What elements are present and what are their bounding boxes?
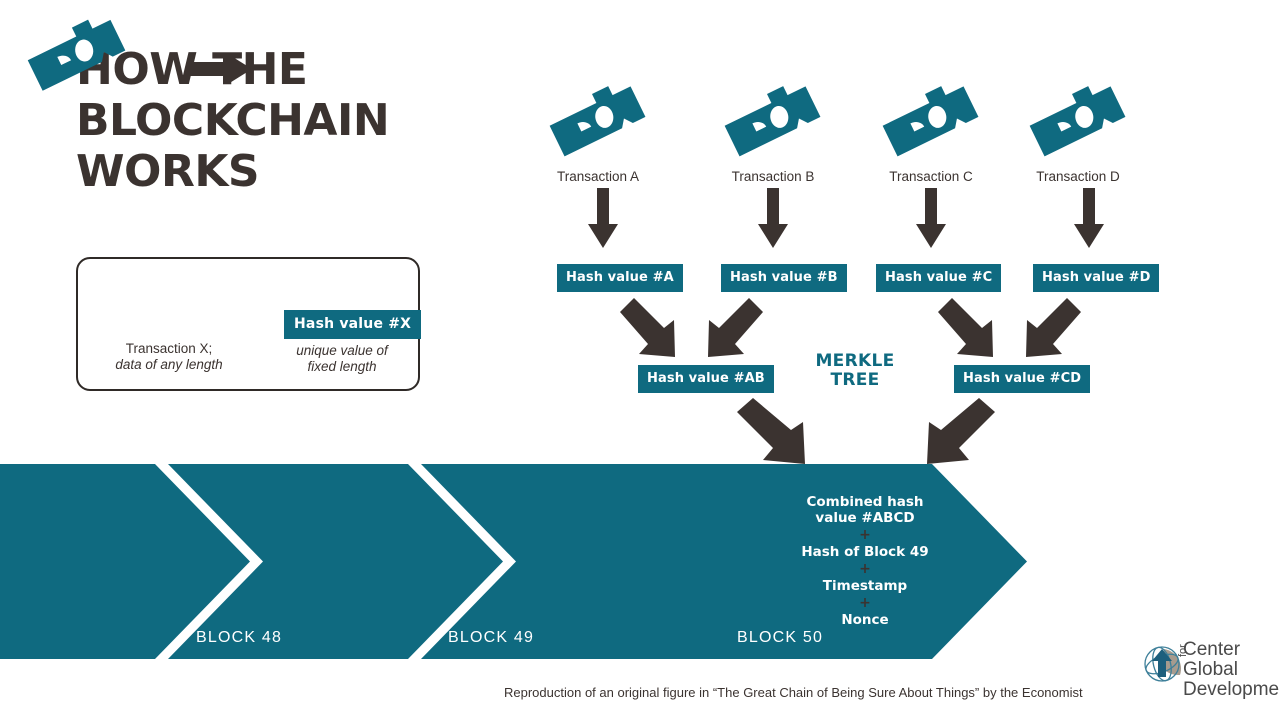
down-arrow-icon-b (757, 188, 789, 250)
transaction-document-icon (871, 78, 991, 162)
transaction-document-icon (1018, 78, 1138, 162)
transaction-a: Transaction A (538, 78, 658, 184)
block50-combined-hash-line2: value #ABCD (780, 510, 950, 526)
legend-caption-right-line2: fixed length (307, 359, 376, 374)
down-arrow-icon-c (915, 188, 947, 250)
diagonal-arrow-ab-to-block50-icon (733, 398, 811, 466)
legend-caption-left-line2: data of any length (115, 357, 222, 372)
transaction-b-label: Transaction B (713, 169, 833, 184)
transaction-d: Transaction D (1018, 78, 1138, 184)
block-49-label: BLOCK 49 (448, 629, 534, 647)
footer-credit: Reproduction of an original figure in “T… (504, 685, 1083, 700)
diagonal-arrow-c-to-cd-icon (934, 298, 996, 360)
hash-value-d-box: Hash value #D (1033, 264, 1159, 292)
transaction-document-icon (713, 78, 833, 162)
diagonal-arrow-d-to-cd-icon (1023, 298, 1085, 360)
transaction-c: Transaction C (871, 78, 991, 184)
transaction-document-icon (538, 78, 658, 162)
down-arrow-icon-a (587, 188, 619, 250)
logo-line-global: Global (1183, 660, 1280, 680)
logo-line-development: Development (1183, 680, 1280, 700)
legend-caption-left: Transaction X; data of any length (84, 341, 254, 373)
down-arrow-icon-d (1073, 188, 1105, 250)
block50-nonce: Nonce (780, 612, 950, 628)
diagonal-arrow-cd-to-block50-icon (921, 398, 999, 466)
block50-hash-of-block-49: Hash of Block 49 (780, 544, 950, 560)
transaction-d-label: Transaction D (1018, 169, 1138, 184)
legend-right-arrow-icon (188, 52, 258, 86)
block-50-contents: Combined hash value #ABCD + Hash of Bloc… (780, 494, 950, 628)
hash-value-ab-box: Hash value #AB (638, 365, 774, 393)
legend-caption-right: unique value of fixed length (282, 343, 402, 375)
diagonal-arrow-a-to-ab-icon (616, 298, 678, 360)
block50-plus-2: + (780, 561, 950, 577)
transaction-b: Transaction B (713, 78, 833, 184)
legend-transaction-document-icon (22, 14, 132, 94)
block-50-label: BLOCK 50 (737, 629, 823, 647)
hash-value-a-box: Hash value #A (557, 264, 683, 292)
title-line-2: BLOCKCHAIN (76, 95, 389, 146)
block50-timestamp: Timestamp (780, 578, 950, 594)
infographic-canvas: HOW THE BLOCKCHAIN WORKS Hash value #X T… (0, 0, 1280, 720)
block50-combined-hash-line1: Combined hash (780, 494, 950, 510)
hash-value-cd-box: Hash value #CD (954, 365, 1090, 393)
hash-value-c-box: Hash value #C (876, 264, 1001, 292)
block-48-label: BLOCK 48 (196, 629, 282, 647)
globe-icon (1143, 645, 1181, 682)
merkle-line-1: MERKLE (815, 351, 894, 371)
page-title: HOW THE BLOCKCHAIN WORKS (76, 44, 476, 197)
merkle-line-2: TREE (830, 370, 879, 390)
block50-plus-1: + (780, 527, 950, 543)
logo-wordmark: Center Global Development (1183, 640, 1280, 700)
transaction-c-label: Transaction C (871, 169, 991, 184)
diagonal-arrow-b-to-ab-icon (705, 298, 767, 360)
logo-line-for: for (1177, 644, 1189, 657)
hash-value-b-box: Hash value #B (721, 264, 847, 292)
legend-caption-right-line1: unique value of (296, 343, 388, 358)
logo-line-center: Center (1183, 640, 1280, 660)
block50-plus-3: + (780, 595, 950, 611)
legend-hash-value-box: Hash value #X (284, 310, 421, 339)
transaction-a-label: Transaction A (538, 169, 658, 184)
legend-caption-left-line1: Transaction X; (126, 341, 213, 356)
merkle-tree-label: MERKLE TREE (800, 352, 910, 390)
title-line-3: WORKS (76, 146, 259, 197)
